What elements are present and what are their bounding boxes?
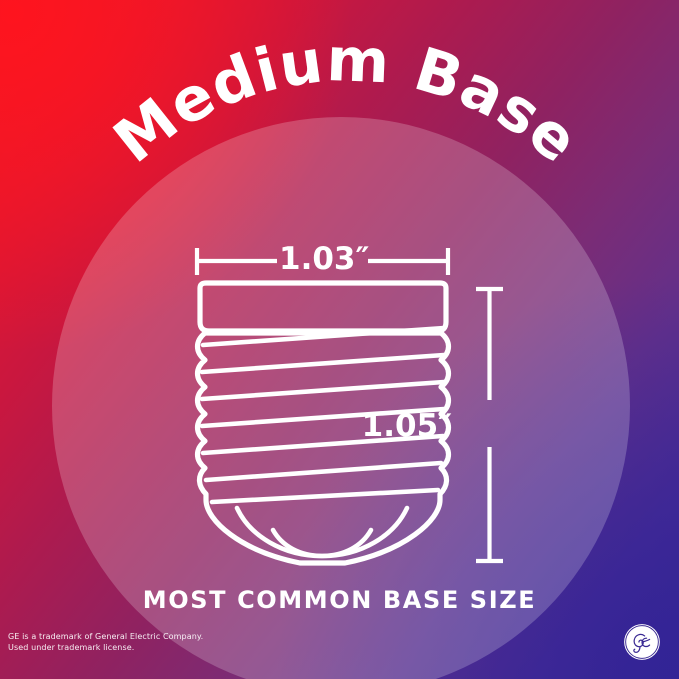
- height-dimension-line: [476, 289, 503, 561]
- width-dimension-label: 1.03″: [279, 241, 369, 277]
- thread-line-3: [202, 382, 444, 399]
- ge-monogram-logo: [623, 623, 661, 661]
- thread-line-7: [212, 490, 438, 502]
- legal-line-1: GE is a trademark of General Electric Co…: [8, 631, 203, 642]
- thread-line-6: [206, 463, 441, 480]
- caption-text: MOST COMMON BASE SIZE: [0, 586, 679, 614]
- thread-line-2: [202, 355, 444, 372]
- legal-fine-print: GE is a trademark of General Electric Co…: [8, 631, 203, 653]
- bulb-collar: [200, 283, 446, 331]
- legal-line-2: Used under trademark license.: [8, 642, 203, 653]
- bulb-tip-upper: [237, 508, 407, 556]
- product-infographic: Medium Base: [0, 0, 679, 679]
- bulb-base-illustration: [0, 0, 679, 679]
- height-dimension-label: 1.05″: [362, 408, 452, 444]
